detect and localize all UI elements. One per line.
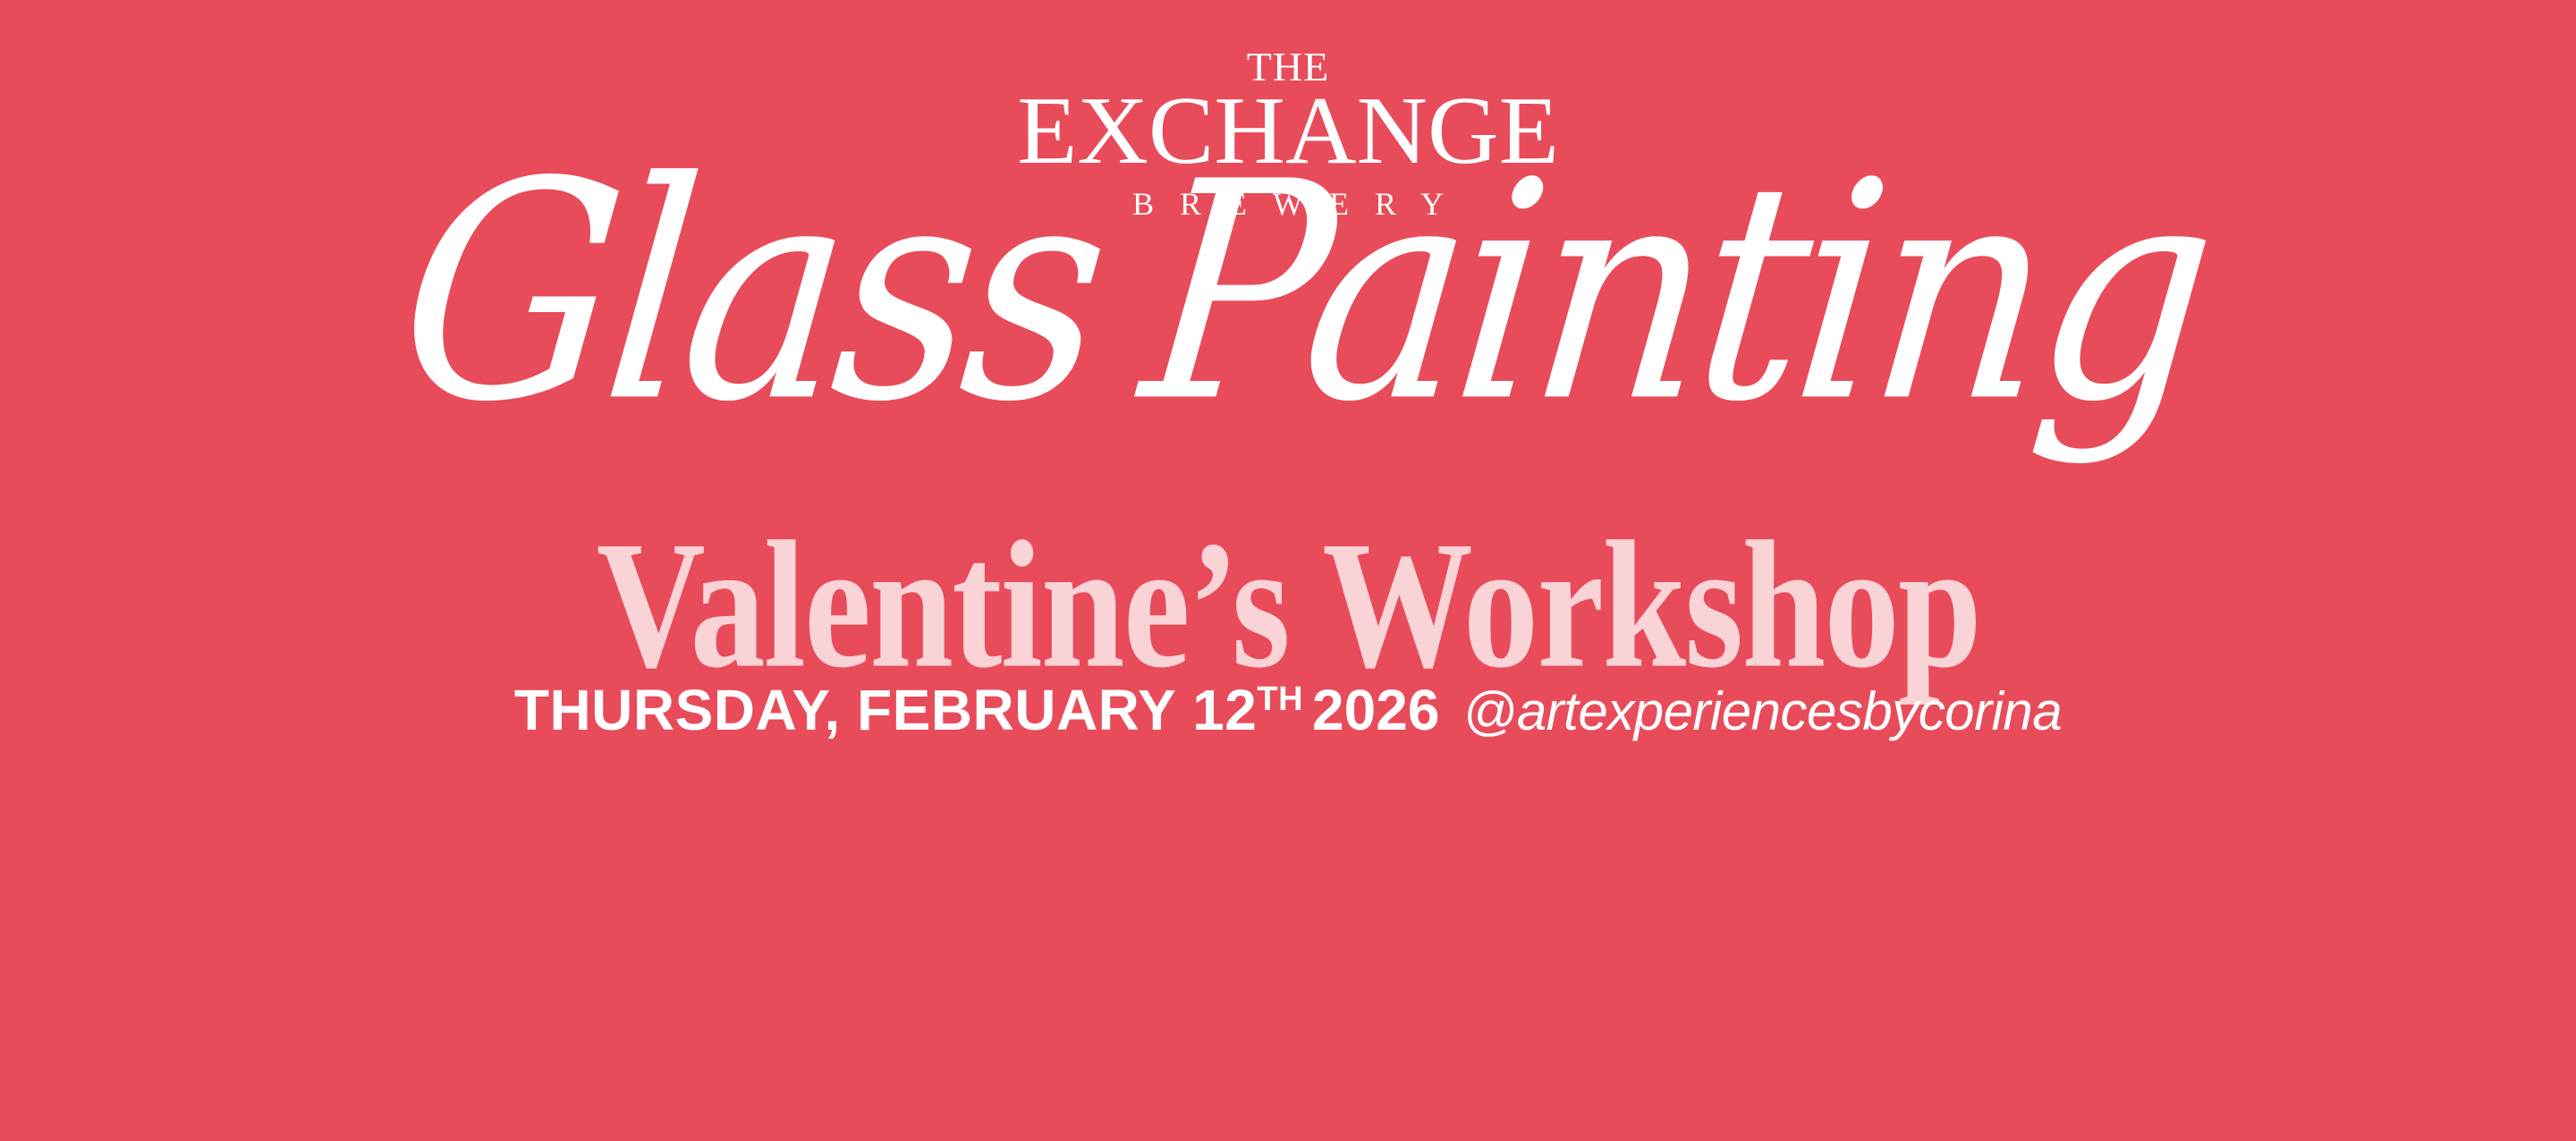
display-headline: Valentine’s Workshop xyxy=(0,514,2576,689)
event-day-ordinal: TH xyxy=(1257,682,1303,716)
event-details-line: THURSDAY, FEBRUARY12TH2026@artexperience… xyxy=(0,681,2576,739)
event-poster: THE EXCHANGE BREWERY GlassPainting Valen… xyxy=(0,0,2576,1141)
display-headline-text: Valentine’s Workshop xyxy=(596,514,1979,697)
event-weekday-month: THURSDAY, FEBRUARY xyxy=(514,681,1176,739)
script-word-painting: Painting xyxy=(1133,143,2218,444)
event-day-number: 12 xyxy=(1192,681,1257,739)
event-year: 2026 xyxy=(1312,681,1439,739)
social-handle: @artexperiencesbycorina xyxy=(1462,685,2062,739)
script-word-glass: Glass xyxy=(389,143,1112,444)
script-headline: GlassPainting xyxy=(0,175,2576,444)
